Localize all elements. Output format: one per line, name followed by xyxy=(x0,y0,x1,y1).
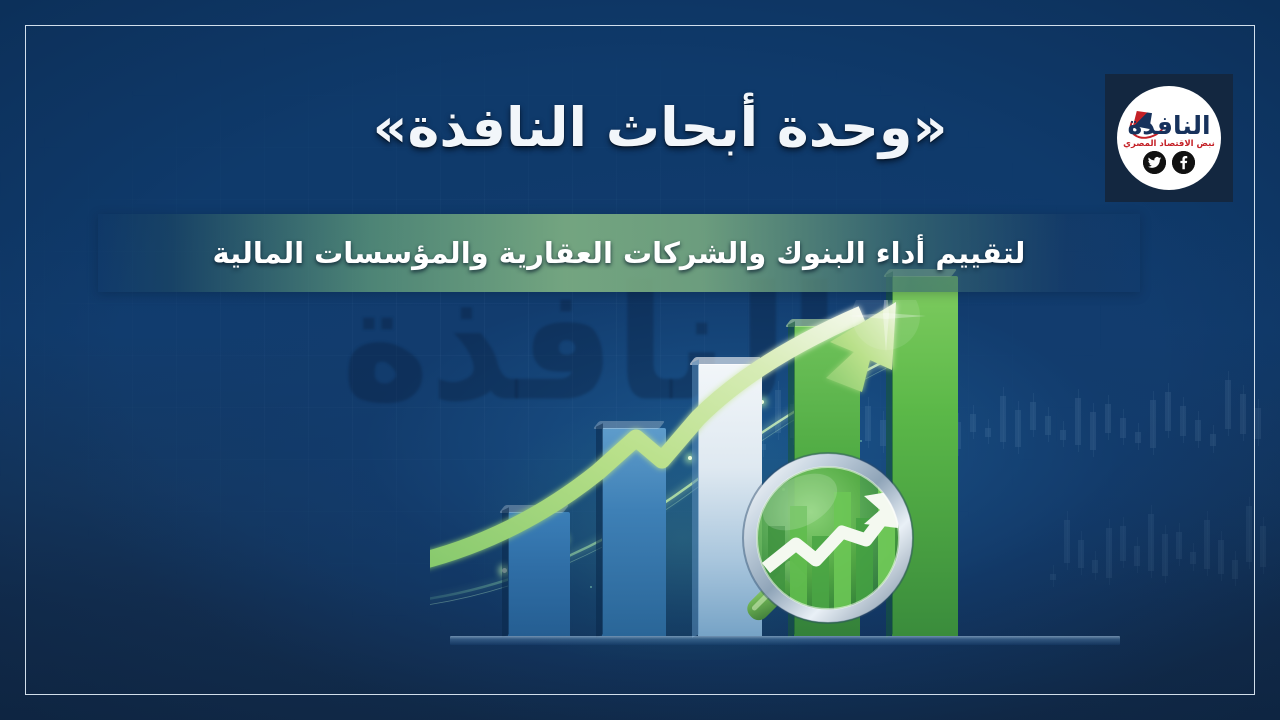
brand-logo[interactable]: النافذة نبض الاقتصاد المصري xyxy=(1105,74,1233,202)
magnifying-glass-icon xyxy=(730,440,940,650)
logo-social-links xyxy=(1117,151,1221,174)
growth-chart-illustration xyxy=(430,300,1130,700)
poster-canvas: النافذة xyxy=(0,0,1280,720)
twitter-icon[interactable] xyxy=(1143,151,1166,174)
page-title: «وحدة أبحاث النافذة» xyxy=(0,96,1280,159)
logo-tagline: نبض الاقتصاد المصري xyxy=(1117,139,1221,149)
logo-wordmark: النافذة xyxy=(1117,113,1221,138)
page-subtitle: لتقييم أداء البنوك والشركات العقارية وال… xyxy=(98,214,1140,292)
facebook-icon[interactable] xyxy=(1172,151,1195,174)
logo-circle: النافذة نبض الاقتصاد المصري xyxy=(1117,86,1221,190)
